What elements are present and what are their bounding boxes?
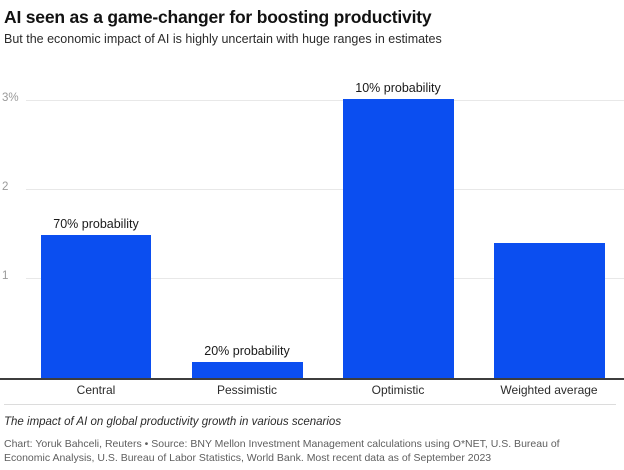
- footer-note: The impact of AI on global productivity …: [4, 415, 341, 430]
- chart-subtitle: But the economic impact of AI is highly …: [4, 31, 616, 47]
- x-tick-label-central: Central: [21, 382, 171, 398]
- bar-optimistic[interactable]: [343, 99, 454, 378]
- x-axis-line: [0, 378, 624, 380]
- chart-title: AI seen as a game-changer for boosting p…: [4, 6, 616, 28]
- x-tick-label-weighted-average: Weighted average: [474, 382, 624, 398]
- plot-canvas: 3% 2 1 70% probability 20% probability 1…: [0, 66, 624, 400]
- bar-weighted-average[interactable]: [494, 243, 605, 378]
- bars-layer: 70% probability 20% probability 10% prob…: [0, 66, 624, 400]
- chart-root: AI seen as a game-changer for boosting p…: [0, 0, 624, 470]
- footer-divider: [4, 404, 616, 405]
- bar-central[interactable]: [41, 235, 151, 378]
- plot-area: 3% 2 1 70% probability 20% probability 1…: [0, 66, 624, 400]
- bar-label-optimistic: 10% probability: [323, 81, 473, 95]
- x-tick-label-optimistic: Optimistic: [323, 382, 473, 398]
- bar-label-central: 70% probability: [21, 217, 171, 231]
- x-axis-labels: Central Pessimistic Optimistic Weighted …: [0, 382, 624, 400]
- footer-credit-line-2: Economic Analysis, U.S. Bureau of Labor …: [4, 451, 618, 465]
- footer-credit-line-1: Chart: Yoruk Bahceli, Reuters • Source: …: [4, 437, 618, 451]
- bar-label-pessimistic: 20% probability: [172, 344, 322, 358]
- bar-pessimistic[interactable]: [192, 362, 303, 378]
- chart-header: AI seen as a game-changer for boosting p…: [0, 0, 624, 47]
- x-tick-label-pessimistic: Pessimistic: [172, 382, 322, 398]
